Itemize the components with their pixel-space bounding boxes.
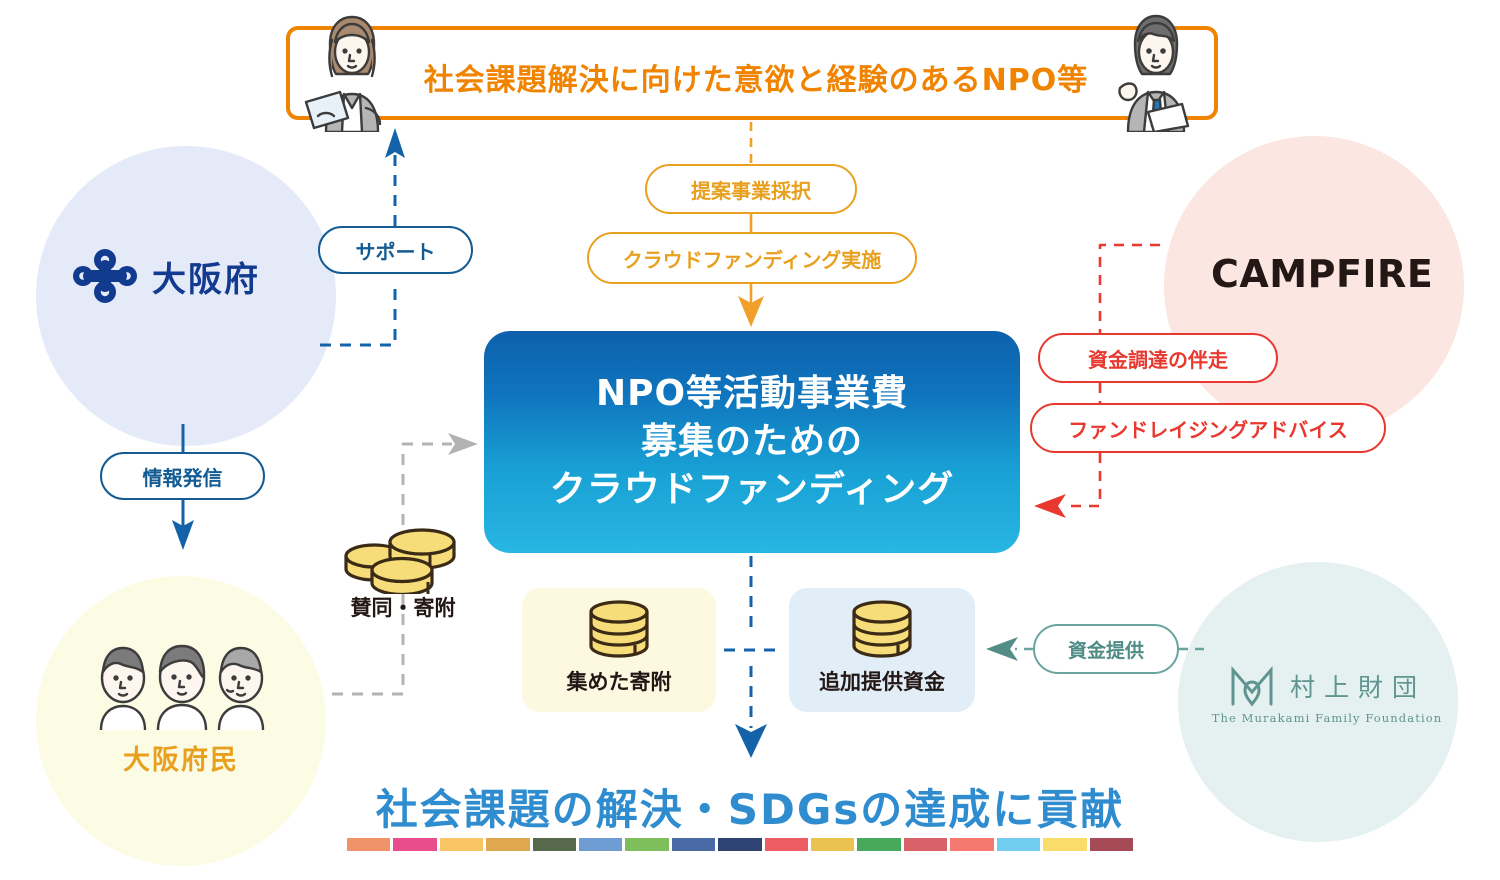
chip-information-dissemination[interactable]: 情報発信 [100, 452, 265, 500]
collected-donations-card: 集めた寄附 [522, 588, 716, 712]
chip-funding-accompaniment[interactable]: 資金調達の伴走 [1038, 333, 1278, 383]
main-card-line2: 募集のための [641, 418, 863, 466]
citizens-label: 大阪府民 [36, 738, 326, 777]
chip-crowdfunding-execution[interactable]: クラウドファンディング実施 [587, 232, 917, 284]
campfire-brand-label: CAMPFIRE [1211, 252, 1433, 296]
footer-title: 社会課題の解決・SDGsの達成に貢献 [340, 776, 1160, 837]
sdg-color-segment-15 [997, 838, 1040, 851]
donation-label: 賛同・寄附 [318, 592, 488, 622]
main-card-line3: クラウドファンディング [550, 466, 954, 514]
sdg-color-segment-6 [579, 838, 622, 851]
sdg-color-segment-13 [904, 838, 947, 851]
sdg-color-segment-2 [393, 838, 436, 851]
sdg-color-segment-8 [672, 838, 715, 851]
murakami-foundation-en-label: The Murakami Family Foundation [1207, 711, 1447, 725]
coin-stack-icon [588, 600, 650, 658]
coins-stack-icon [342, 526, 464, 594]
sdg-color-segment-5 [533, 838, 576, 851]
businesswoman-illustration [304, 8, 400, 132]
chip-support[interactable]: サポート [318, 226, 473, 274]
top-banner: 社会課題解決に向けた意欲と経験のあるNPO等 [286, 26, 1218, 120]
sdg-color-segment-17 [1090, 838, 1133, 851]
additional-funds-card: 追加提供資金 [789, 588, 975, 712]
diagram-canvas: 社会課題解決に向けた意欲と経験のあるNPO等 [0, 0, 1500, 880]
main-card-text: NPO等活動事業費 募集のための クラウドファンディング [484, 331, 1020, 553]
osaka-logo-icon [72, 248, 138, 304]
murakami-foundation-jp-label: 村上財団 [1290, 668, 1426, 704]
sdg-color-segment-14 [950, 838, 993, 851]
osaka-prefecture-logo-group: 大阪府 [72, 248, 260, 304]
main-crowdfunding-card: NPO等活動事業費 募集のための クラウドファンディング [484, 331, 1020, 553]
connector-adoption-flow [738, 122, 764, 327]
main-card-line1: NPO等活動事業費 [596, 370, 908, 418]
coin-stack-icon [851, 600, 913, 658]
murakami-mark-icon [1228, 664, 1276, 708]
osaka-prefecture-label: 大阪府 [152, 252, 260, 301]
connector-outcome [724, 556, 778, 758]
collected-donations-label: 集めた寄附 [522, 666, 716, 696]
top-banner-label: 社会課題解決に向けた意欲と経験のあるNPO等 [290, 30, 1222, 124]
sdg-color-segment-10 [765, 838, 808, 851]
sdg-color-segment-1 [347, 838, 390, 851]
citizens-illustration [95, 640, 275, 730]
sdg-color-segment-3 [440, 838, 483, 851]
chip-funding-provision[interactable]: 資金提供 [1033, 624, 1179, 674]
chip-fundraising-advice[interactable]: ファンドレイジングアドバイス [1030, 403, 1386, 453]
sdg-color-segment-7 [625, 838, 668, 851]
chip-proposal-adoption[interactable]: 提案事業採択 [645, 164, 857, 214]
sdg-color-segment-9 [718, 838, 761, 851]
additional-funds-label: 追加提供資金 [789, 666, 975, 696]
sdg-color-segment-16 [1043, 838, 1086, 851]
sdg-color-bar [347, 838, 1133, 851]
murakami-foundation-logo-group: 村上財団 The Murakami Family Foundation [1207, 664, 1447, 725]
businessman-illustration [1108, 8, 1204, 132]
sdg-color-segment-11 [811, 838, 854, 851]
sdg-color-segment-4 [486, 838, 529, 851]
sdg-color-segment-12 [857, 838, 900, 851]
